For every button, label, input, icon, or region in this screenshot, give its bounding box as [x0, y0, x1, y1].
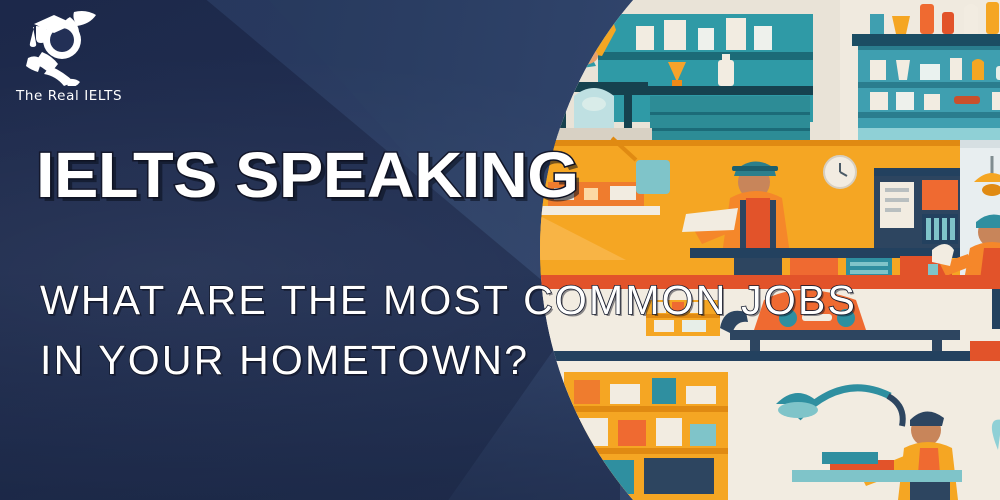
illustration-canvas: [540, 0, 1000, 500]
illustration-svg: [540, 0, 1000, 500]
page-title: IELTS SPEAKING: [36, 143, 579, 207]
subtitle-line-1: WHAT ARE THE MOST COMMON JOBS: [40, 280, 857, 321]
postal-worker-scene: [540, 138, 960, 280]
ielts-speaking-banner: The Real IELTS IELTS SPEAKING WHAT ARE T…: [0, 0, 1000, 500]
subtitle-line-2: IN YOUR HOMETOWN?: [40, 340, 529, 381]
graduation-cap-runner-logo-icon: [12, 8, 116, 86]
logo-text: The Real IELTS: [16, 88, 132, 104]
lab-workshop-scene: [540, 0, 840, 140]
jobs-collage-illustration: [540, 0, 1000, 500]
logo[interactable]: The Real IELTS: [12, 8, 132, 104]
cleaner-scene: [540, 361, 1000, 500]
workers-pair-scene: [840, 0, 1000, 153]
